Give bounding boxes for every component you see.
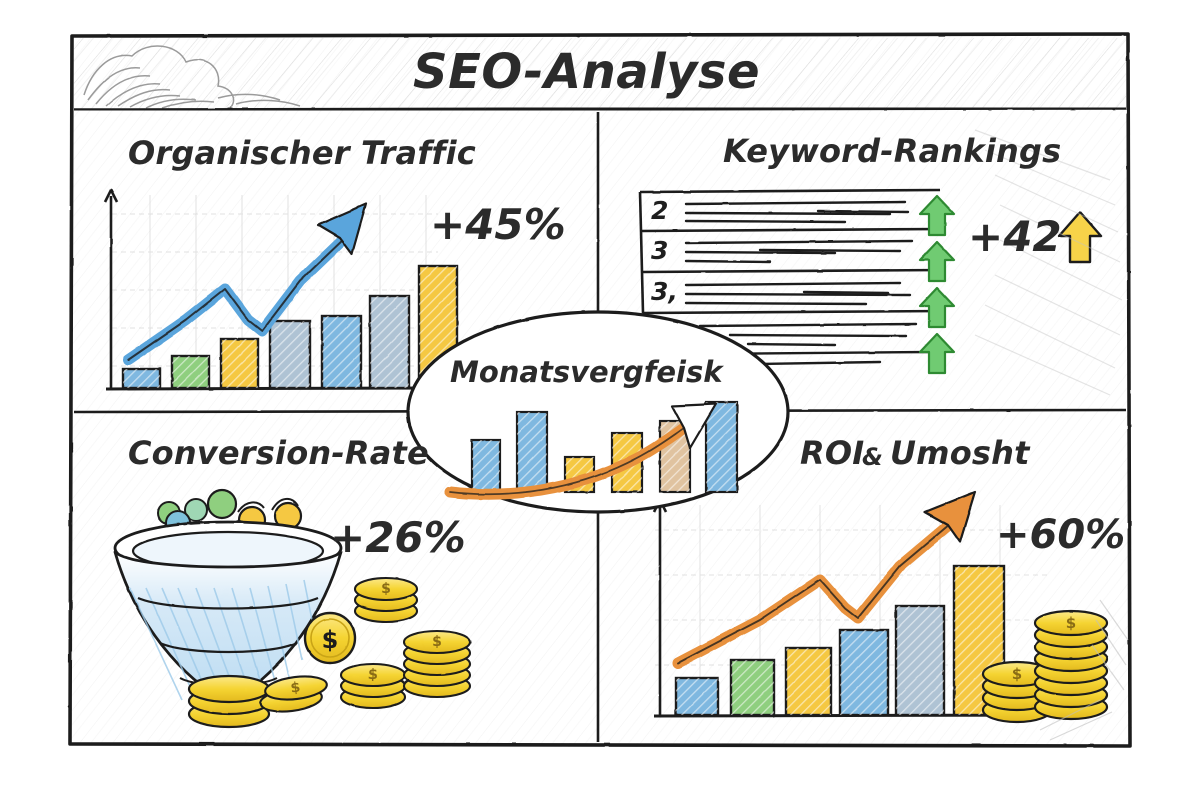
coin-stack-4: $	[404, 631, 470, 697]
center-badge-label: Monatsvergfeisk	[450, 355, 723, 389]
bar-3	[221, 339, 258, 388]
bar-2	[172, 356, 209, 388]
coin-single: $	[305, 613, 355, 663]
bar-6	[370, 296, 409, 388]
mini-bar-6	[706, 402, 737, 492]
svg-text:$: $	[432, 634, 442, 650]
bar-5	[322, 316, 361, 388]
kpi-roi: +60%	[996, 512, 1125, 558]
bar-3	[786, 648, 831, 715]
svg-text:$: $	[1012, 665, 1022, 683]
infographic-canvas: $ $ $	[0, 0, 1200, 800]
svg-text:$: $	[290, 679, 302, 696]
coin-stack-3: $	[341, 664, 405, 708]
svg-text:$: $	[322, 626, 339, 654]
svg-text:$: $	[1066, 614, 1076, 632]
kpi-conversion-rate: +26%	[330, 513, 466, 562]
mini-bar-2	[517, 412, 547, 492]
panel-title-conversion-rate: Conversion-Rate	[128, 434, 429, 472]
bar-4	[270, 321, 310, 388]
bar-4	[840, 630, 888, 715]
panel-title-roi-amp: &	[862, 443, 883, 471]
bar-5	[896, 606, 944, 715]
bar-2	[731, 660, 774, 715]
ranking-row-2-rank: 3	[651, 236, 668, 265]
bar-1	[123, 369, 160, 388]
kpi-keyword-rankings: +42	[968, 212, 1062, 261]
mini-bar-1	[472, 440, 500, 492]
bar-1	[676, 678, 718, 715]
center-badge[interactable]	[408, 312, 788, 512]
page-title: SEO-Analyse	[413, 44, 760, 100]
coin-stack-5: $	[355, 578, 417, 622]
svg-text:$: $	[381, 581, 391, 597]
panel-title-roi-part2: Umosht	[890, 434, 1030, 472]
svg-text:$: $	[368, 667, 378, 683]
coin-stack-1	[189, 676, 269, 727]
ranking-row-1-rank: 2	[651, 196, 668, 225]
seo-analysis-whiteboard: $ $ $	[0, 0, 1200, 800]
ranking-row-3-rank: 3,	[651, 277, 678, 306]
kpi-organic-traffic: +45%	[430, 200, 566, 249]
panel-title-keyword-rankings: Keyword-Rankings	[723, 132, 1061, 170]
panel-title-organic-traffic: Organischer Traffic	[128, 134, 476, 172]
panel-title-roi-part1: ROI	[800, 434, 864, 472]
coin-stack-tall: $	[1035, 611, 1107, 719]
